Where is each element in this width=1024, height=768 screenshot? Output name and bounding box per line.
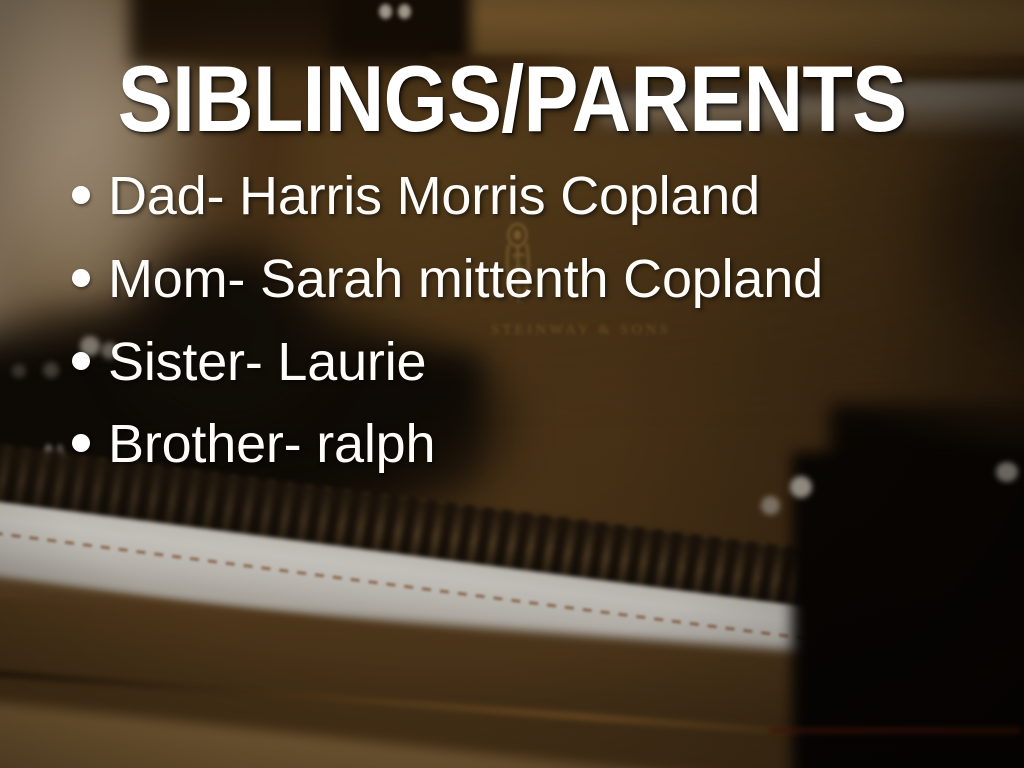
bullet-dot-icon — [72, 269, 90, 287]
bullet-text: Sister- Laurie — [108, 330, 426, 395]
bullet-text: Dad- Harris Morris Copland — [108, 164, 760, 229]
list-item: Brother- ralph — [58, 412, 958, 477]
list-item: Mom- Sarah mittenth Copland — [58, 247, 958, 312]
list-item: Dad- Harris Morris Copland — [58, 164, 958, 229]
bullet-dot-icon — [72, 434, 90, 452]
bullet-dot-icon — [72, 352, 90, 370]
bullet-list: Dad- Harris Morris Copland Mom- Sarah mi… — [58, 164, 958, 495]
slide-content: SIBLINGS/PARENTS Dad- Harris Morris Copl… — [0, 0, 1024, 768]
presentation-slide: STEINWAY & SONS SIBLIN — [0, 0, 1024, 768]
list-item: Sister- Laurie — [58, 330, 958, 395]
slide-title: SIBLINGS/PARENTS — [61, 52, 962, 146]
bullet-text: Brother- ralph — [108, 412, 435, 477]
bullet-text: Mom- Sarah mittenth Copland — [108, 247, 823, 312]
bullet-dot-icon — [72, 186, 90, 204]
